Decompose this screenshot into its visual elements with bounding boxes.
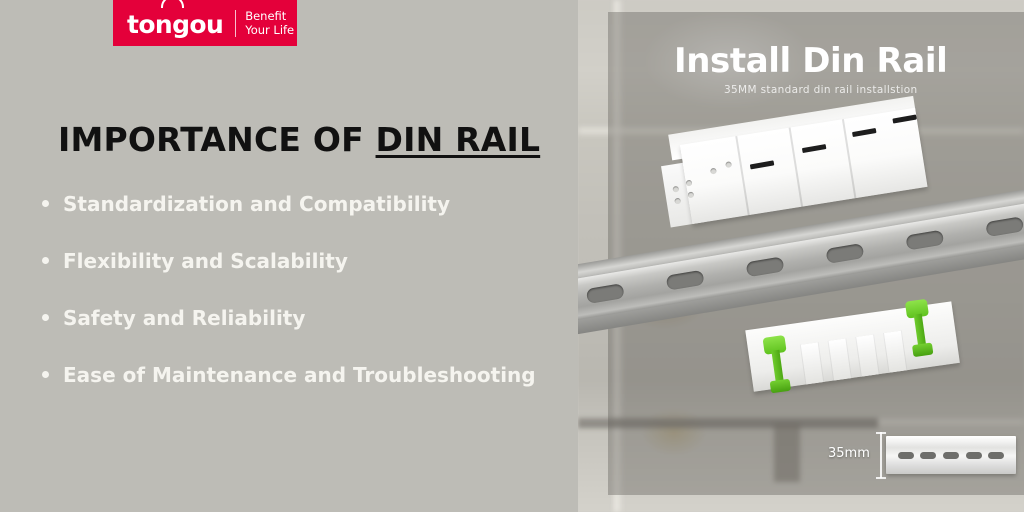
logo-wordmark: tongou bbox=[127, 10, 223, 37]
photo-subtitle: 35MM standard din rail installstion bbox=[724, 84, 918, 96]
headline-emphasis: DIN RAIL bbox=[376, 120, 541, 159]
logo-arc-icon bbox=[161, 0, 184, 8]
benefits-list: Standardization and Compatibility Flexib… bbox=[42, 192, 572, 420]
din-rail-sample-slot bbox=[943, 452, 959, 459]
poster-canvas: tongou Benefit Your Life IMPORTANCE OF D… bbox=[0, 0, 1024, 512]
product-photo-pane: Install Din Rail 35MM standard din rail … bbox=[578, 0, 1024, 512]
list-item: Flexibility and Scalability bbox=[42, 249, 572, 306]
din-rail-sample-slot bbox=[988, 452, 1004, 459]
tongou-logo: tongou Benefit Your Life bbox=[113, 0, 297, 46]
din-rail-sample-slot bbox=[898, 452, 914, 459]
bullet-dot-icon bbox=[42, 371, 49, 378]
list-item-label: Ease of Maintenance and Troubleshooting bbox=[63, 363, 536, 387]
bullet-dot-icon bbox=[42, 257, 49, 264]
din-clip-foot bbox=[770, 379, 791, 394]
logo-tagline: Benefit Your Life bbox=[245, 9, 294, 37]
dimension-line bbox=[880, 432, 882, 478]
din-rail-sample-slot bbox=[966, 452, 982, 459]
page-title: IMPORTANCE OF DIN RAIL bbox=[58, 120, 540, 159]
bullet-dot-icon bbox=[42, 314, 49, 321]
logo-tagline-line1: Benefit bbox=[245, 9, 294, 23]
dimension-tick-bottom bbox=[876, 477, 886, 479]
bullet-dot-icon bbox=[42, 200, 49, 207]
list-item: Ease of Maintenance and Troubleshooting bbox=[42, 363, 572, 420]
list-item: Standardization and Compatibility bbox=[42, 192, 572, 249]
list-item: Safety and Reliability bbox=[42, 306, 572, 363]
dimension-callout: 35mm bbox=[828, 432, 1018, 480]
list-item-label: Flexibility and Scalability bbox=[63, 249, 348, 273]
dimension-tick-top bbox=[876, 432, 886, 434]
list-item-label: Safety and Reliability bbox=[63, 306, 305, 330]
din-rail-sample-slot bbox=[920, 452, 936, 459]
logo-divider bbox=[235, 10, 236, 37]
dimension-label: 35mm bbox=[828, 446, 870, 461]
headline-prefix: IMPORTANCE OF bbox=[58, 120, 376, 159]
left-content-pane: tongou Benefit Your Life IMPORTANCE OF D… bbox=[0, 0, 578, 512]
logo-tagline-line2: Your Life bbox=[245, 23, 294, 37]
din-rail-sample bbox=[886, 436, 1016, 474]
photo-title: Install Din Rail bbox=[674, 41, 947, 81]
list-item-label: Standardization and Compatibility bbox=[63, 192, 450, 216]
